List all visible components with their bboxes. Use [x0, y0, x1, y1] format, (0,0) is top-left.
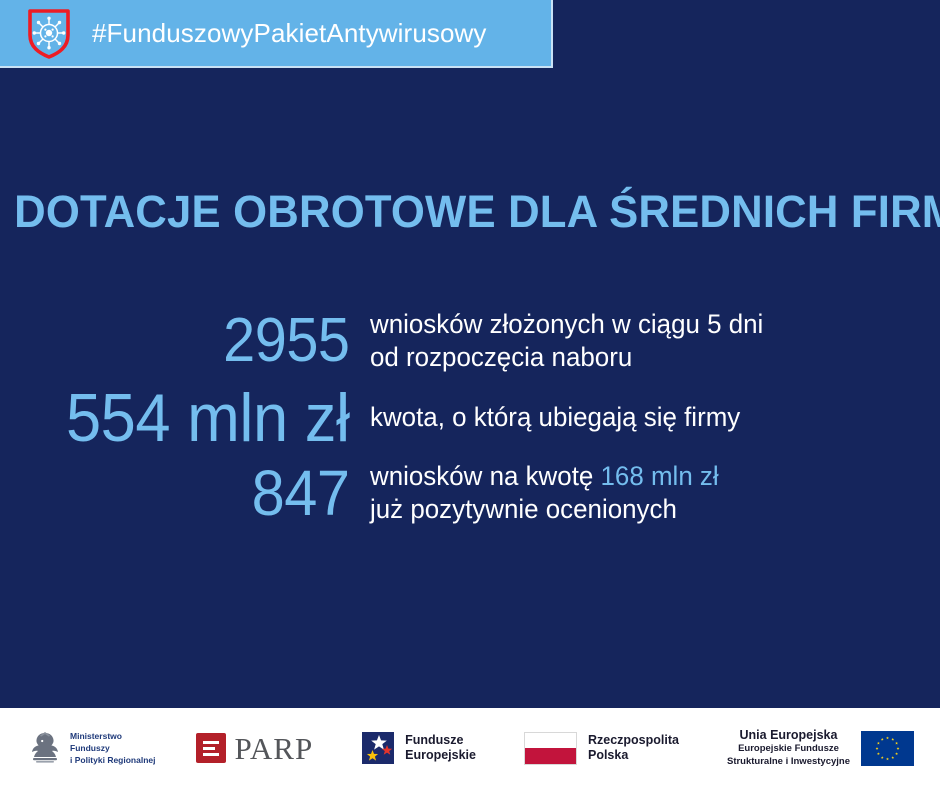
infographic-poster: #FunduszowyPakietAntywirusowy DOTACJE OB… [0, 0, 940, 788]
logo-rzeczpospolita-polska: Rzeczpospolita Polska [524, 732, 679, 765]
stat-highlight-amount: 168 mln zł [601, 461, 719, 491]
ministry-line: Ministerstwo [70, 730, 156, 742]
stat-description-prefix: wniosków na kwotę [370, 461, 601, 491]
rzeczpospolita-label: Rzeczpospolita Polska [588, 733, 679, 764]
ministry-line: i Polityki Regionalnej [70, 754, 156, 766]
ue-subline: Europejskie Fundusze [727, 743, 850, 755]
polish-eagle-emblem-icon [28, 729, 62, 767]
logo-ministerstwo-funduszy: Ministerstwo Funduszy i Polityki Regiona… [28, 729, 156, 767]
ue-subline: Strukturalne i Inwestycyjne [727, 756, 850, 768]
flag-stripe-white [525, 733, 576, 749]
logo-fundusze-europejskie: Fundusze Europejskie [362, 729, 476, 767]
stat-number: 554 mln zł [26, 384, 370, 452]
logo-unia-europejska: Unia Europejska Europejskie Fundusze Str… [727, 728, 914, 768]
hashtag-label: #FunduszowyPakietAntywirusowy [92, 18, 487, 49]
stat-description: wniosków złożonych w ciągu 5 dni od rozp… [370, 308, 917, 374]
poland-flag-icon [524, 732, 577, 765]
stat-description-line: od rozpoczęcia naboru [370, 341, 917, 374]
footer-logo-bar: Ministerstwo Funduszy i Polityki Regiona… [0, 708, 940, 788]
ue-title: Unia Europejska [727, 728, 850, 744]
page-title: DOTACJE OBROTOWE DLA ŚREDNICH FIRM [14, 186, 926, 238]
rp-line: Rzeczpospolita [588, 733, 679, 749]
flag-stripe-red [525, 748, 576, 764]
stat-row: 847 wniosków na kwotę 168 mln zł już poz… [0, 460, 940, 526]
statistics-list: 2955 wniosków złożonych w ciągu 5 dni od… [0, 308, 940, 536]
unia-europejska-label: Unia Europejska Europejskie Fundusze Str… [727, 728, 850, 768]
fundusze-europejskie-stars-icon [362, 729, 396, 767]
ministry-name: Ministerstwo Funduszy i Polityki Regiona… [70, 730, 156, 766]
stat-row: 2955 wniosków złożonych w ciągu 5 dni od… [0, 308, 940, 374]
stat-description-line: wniosków na kwotę 168 mln zł [370, 460, 917, 493]
fundusze-europejskie-label: Fundusze Europejskie [405, 733, 476, 764]
stat-row: 554 mln zł kwota, o którą ubiegają się f… [0, 384, 940, 452]
fe-line: Europejskie [405, 748, 476, 764]
logo-parp: PARP [196, 733, 314, 764]
ministry-line: Funduszy [70, 742, 156, 754]
fe-line: Fundusze [405, 733, 476, 749]
shield-virus-icon [26, 7, 72, 59]
stat-description: kwota, o którą ubiegają się firmy [370, 401, 917, 434]
footer-left-logos: Ministerstwo Funduszy i Polityki Regiona… [0, 729, 313, 767]
stat-description-line: wniosków złożonych w ciągu 5 dni [370, 308, 917, 341]
stat-number: 847 [26, 461, 370, 525]
eu-flag-icon [861, 731, 914, 766]
parp-wordmark: PARP [235, 733, 314, 764]
stat-number: 2955 [26, 310, 370, 372]
rp-line: Polska [588, 748, 679, 764]
hashtag-banner: #FunduszowyPakietAntywirusowy [0, 0, 553, 68]
stat-description-line: już pozytywnie ocenionych [370, 493, 917, 526]
footer-right-logos: Fundusze Europejskie Rzeczpospolita Pols… [362, 728, 940, 768]
stat-description-line: kwota, o którą ubiegają się firmy [370, 401, 917, 434]
stat-description: wniosków na kwotę 168 mln zł już pozytyw… [370, 460, 917, 526]
parp-mark-icon [196, 733, 226, 763]
